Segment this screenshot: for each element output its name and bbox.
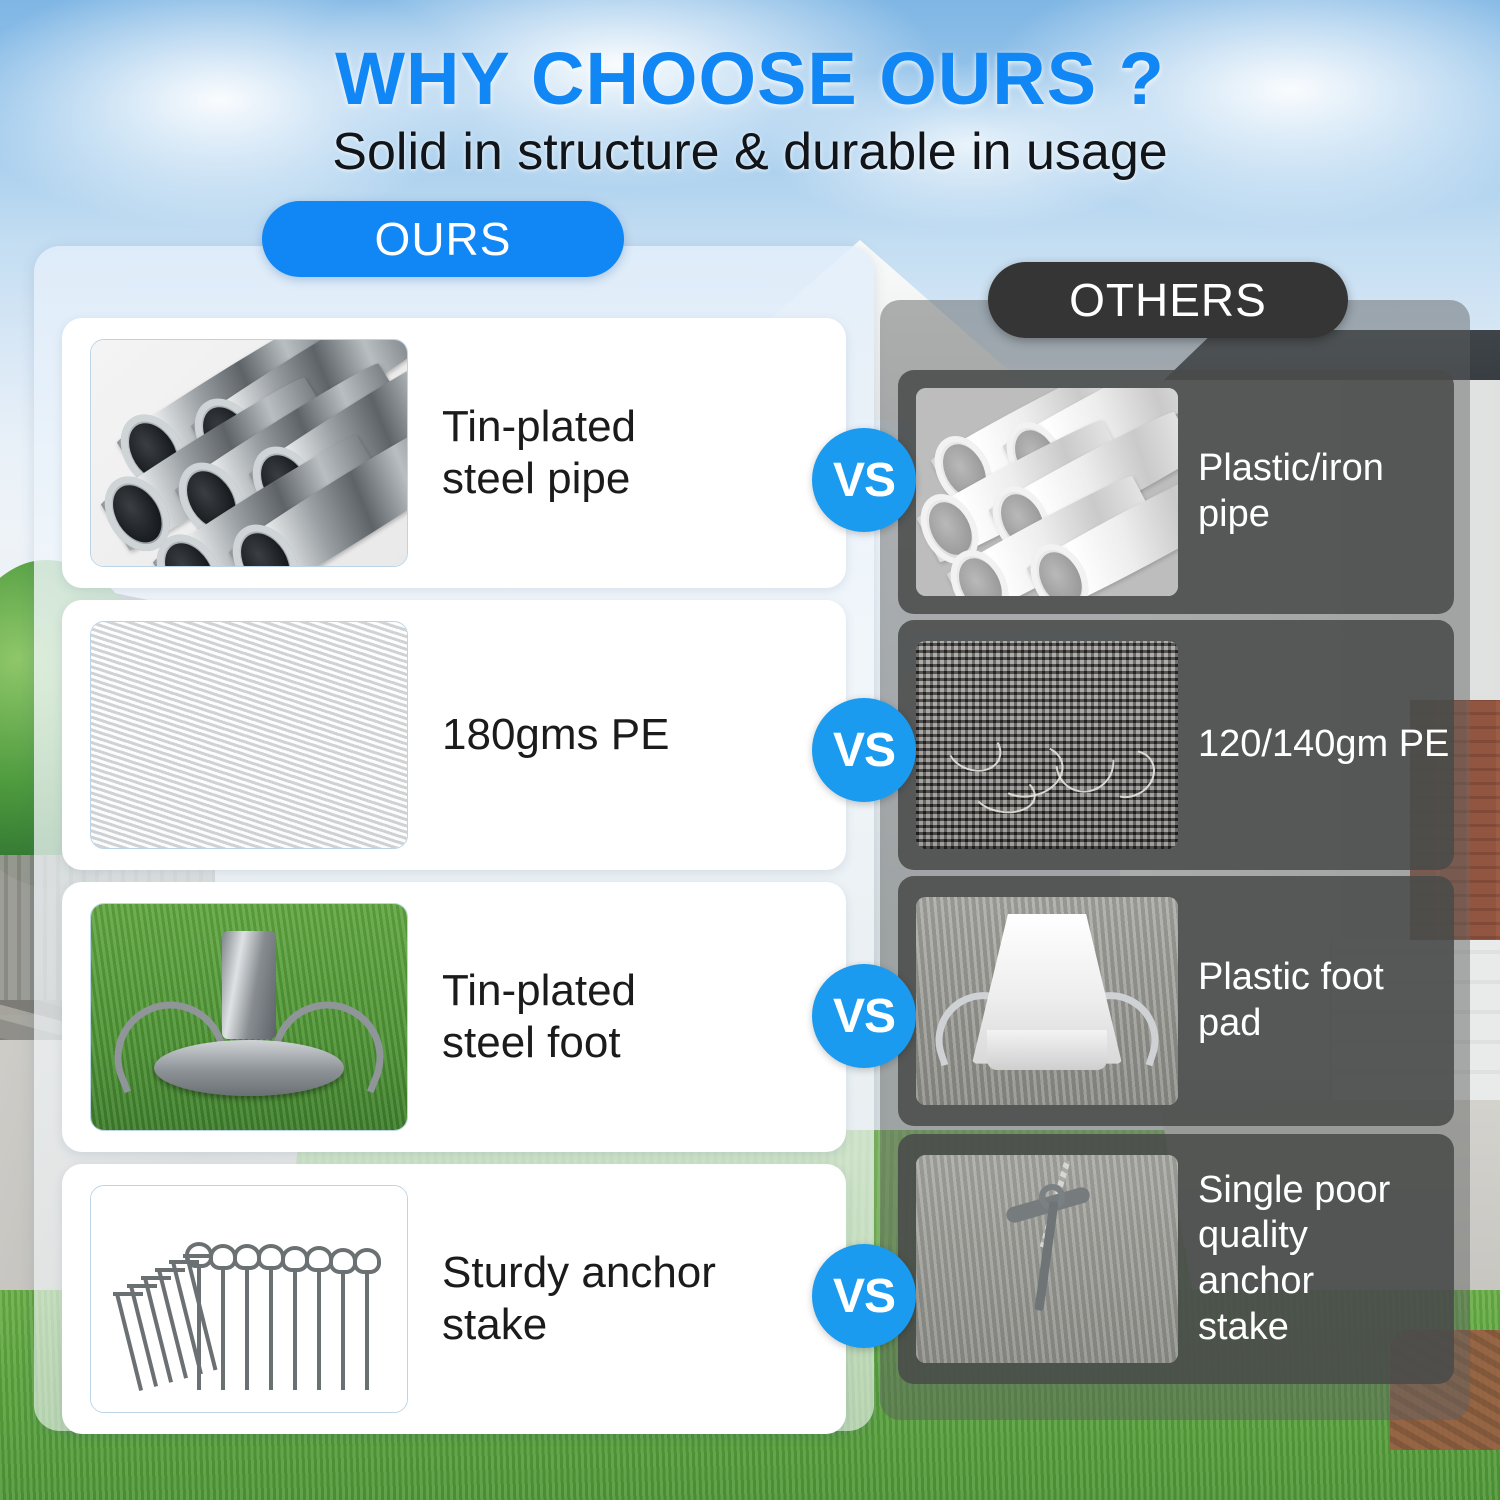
plastic-foot-pad-art (916, 897, 1178, 1105)
others-row-3: Plastic foot pad (898, 876, 1454, 1126)
page-subtitle: Solid in structure & durable in usage (0, 122, 1500, 182)
anchor-stakes-image (90, 1185, 408, 1413)
steel-pipes-image (90, 339, 408, 567)
tab-others[interactable]: OTHERS (988, 262, 1348, 338)
ours-row-1: Tin-plated steel pipe (62, 318, 846, 588)
tab-ours[interactable]: OURS (262, 201, 624, 277)
others-row-2-label: 120/140gm PE (1198, 722, 1449, 768)
steel-foot-plate-image (90, 903, 408, 1131)
single-bent-stake-image (916, 1155, 1178, 1363)
steel-base-plate (154, 1040, 344, 1096)
frayed-burlap-mesh-image (916, 641, 1178, 849)
ours-row-3-label: Tin-plated steel foot (442, 965, 636, 1069)
others-row-2: 120/140gm PE (898, 620, 1454, 870)
plastic-foot-pad-image (916, 897, 1178, 1105)
others-row-1: Plastic/iron pipe (898, 370, 1454, 614)
anchor-stakes-art (91, 1186, 407, 1412)
ours-row-3: Tin-plated steel foot (62, 882, 846, 1152)
white-pe-fabric-art (91, 622, 407, 848)
infographic-canvas: WHY CHOOSE OURS ? Solid in structure & d… (0, 0, 1500, 1500)
white-pvc-pipes-art (916, 388, 1178, 596)
others-row-1-label: Plastic/iron pipe (1198, 446, 1384, 537)
steel-foot-plate-art (91, 904, 407, 1130)
others-row-4-label: Single poor quality anchor stake (1198, 1168, 1390, 1350)
plastic-base (987, 1030, 1107, 1070)
vs-badge-2: VS (812, 698, 916, 802)
steel-pipes-art (91, 340, 407, 566)
others-row-4: Single poor quality anchor stake (898, 1134, 1454, 1384)
ours-row-4: Sturdy anchor stake (62, 1164, 846, 1434)
frayed-burlap-mesh-art (916, 641, 1178, 849)
white-pe-fabric-image (90, 621, 408, 849)
ours-row-2: 180gms PE (62, 600, 846, 870)
ours-row-1-label: Tin-plated steel pipe (442, 401, 636, 505)
single-bent-stake-art (916, 1155, 1178, 1363)
others-row-3-label: Plastic foot pad (1198, 955, 1384, 1046)
steel-post (222, 931, 276, 1039)
stake-shaft (1034, 1201, 1058, 1311)
vs-badge-3: VS (812, 964, 916, 1068)
ours-row-4-label: Sturdy anchor stake (442, 1247, 716, 1351)
white-pvc-pipes-image (916, 388, 1178, 596)
ours-row-2-label: 180gms PE (442, 709, 669, 761)
vs-badge-1: VS (812, 428, 916, 532)
page-title: WHY CHOOSE OURS ? (0, 36, 1500, 121)
vs-badge-4: VS (812, 1244, 916, 1348)
